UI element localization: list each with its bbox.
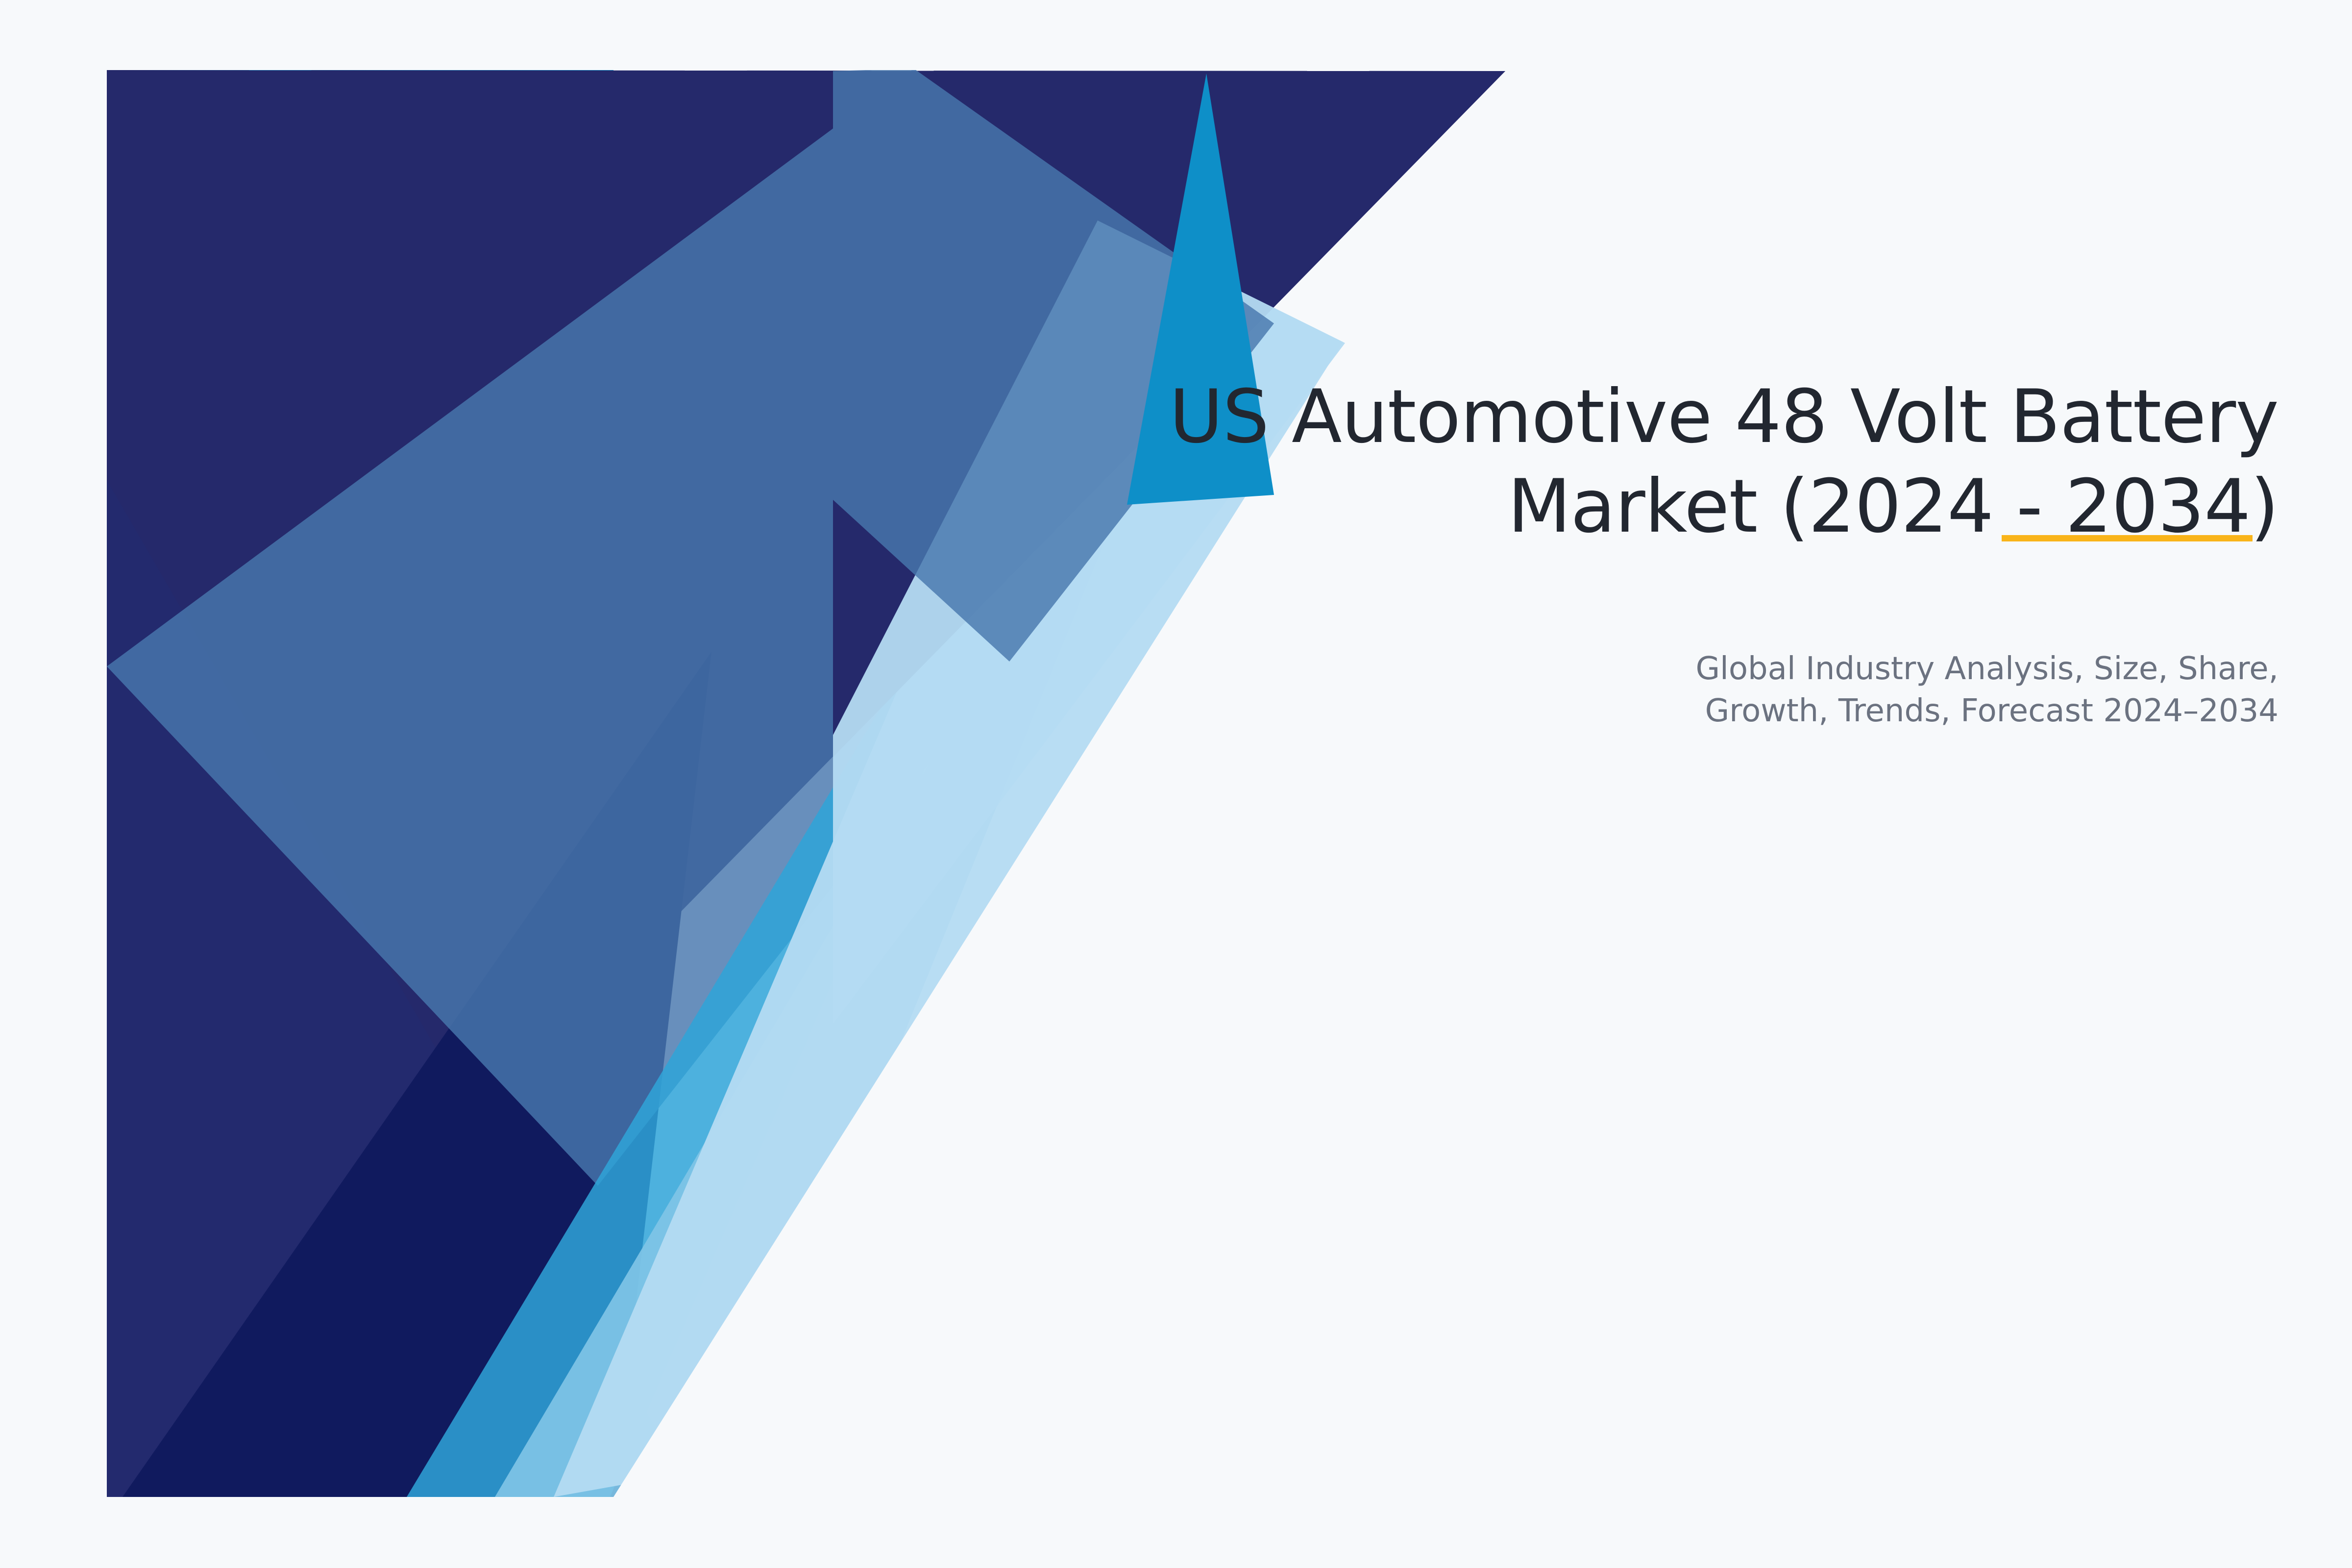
cover-page: US Automotive 48 Volt Battery Market (20… <box>0 0 2352 1568</box>
background-mask-left <box>0 0 107 1568</box>
abstract-geometric-artwork <box>0 0 2352 1568</box>
page-subtitle: Global Industry Analysis, Size, Share, G… <box>1053 648 2278 733</box>
page-title: US Automotive 48 Volt Battery Market (20… <box>1053 372 2278 552</box>
background-mask-bottom <box>0 1497 2352 1568</box>
cover-text-block: US Automotive 48 Volt Battery Market (20… <box>1053 372 2278 552</box>
background-mask-top <box>0 0 2352 70</box>
